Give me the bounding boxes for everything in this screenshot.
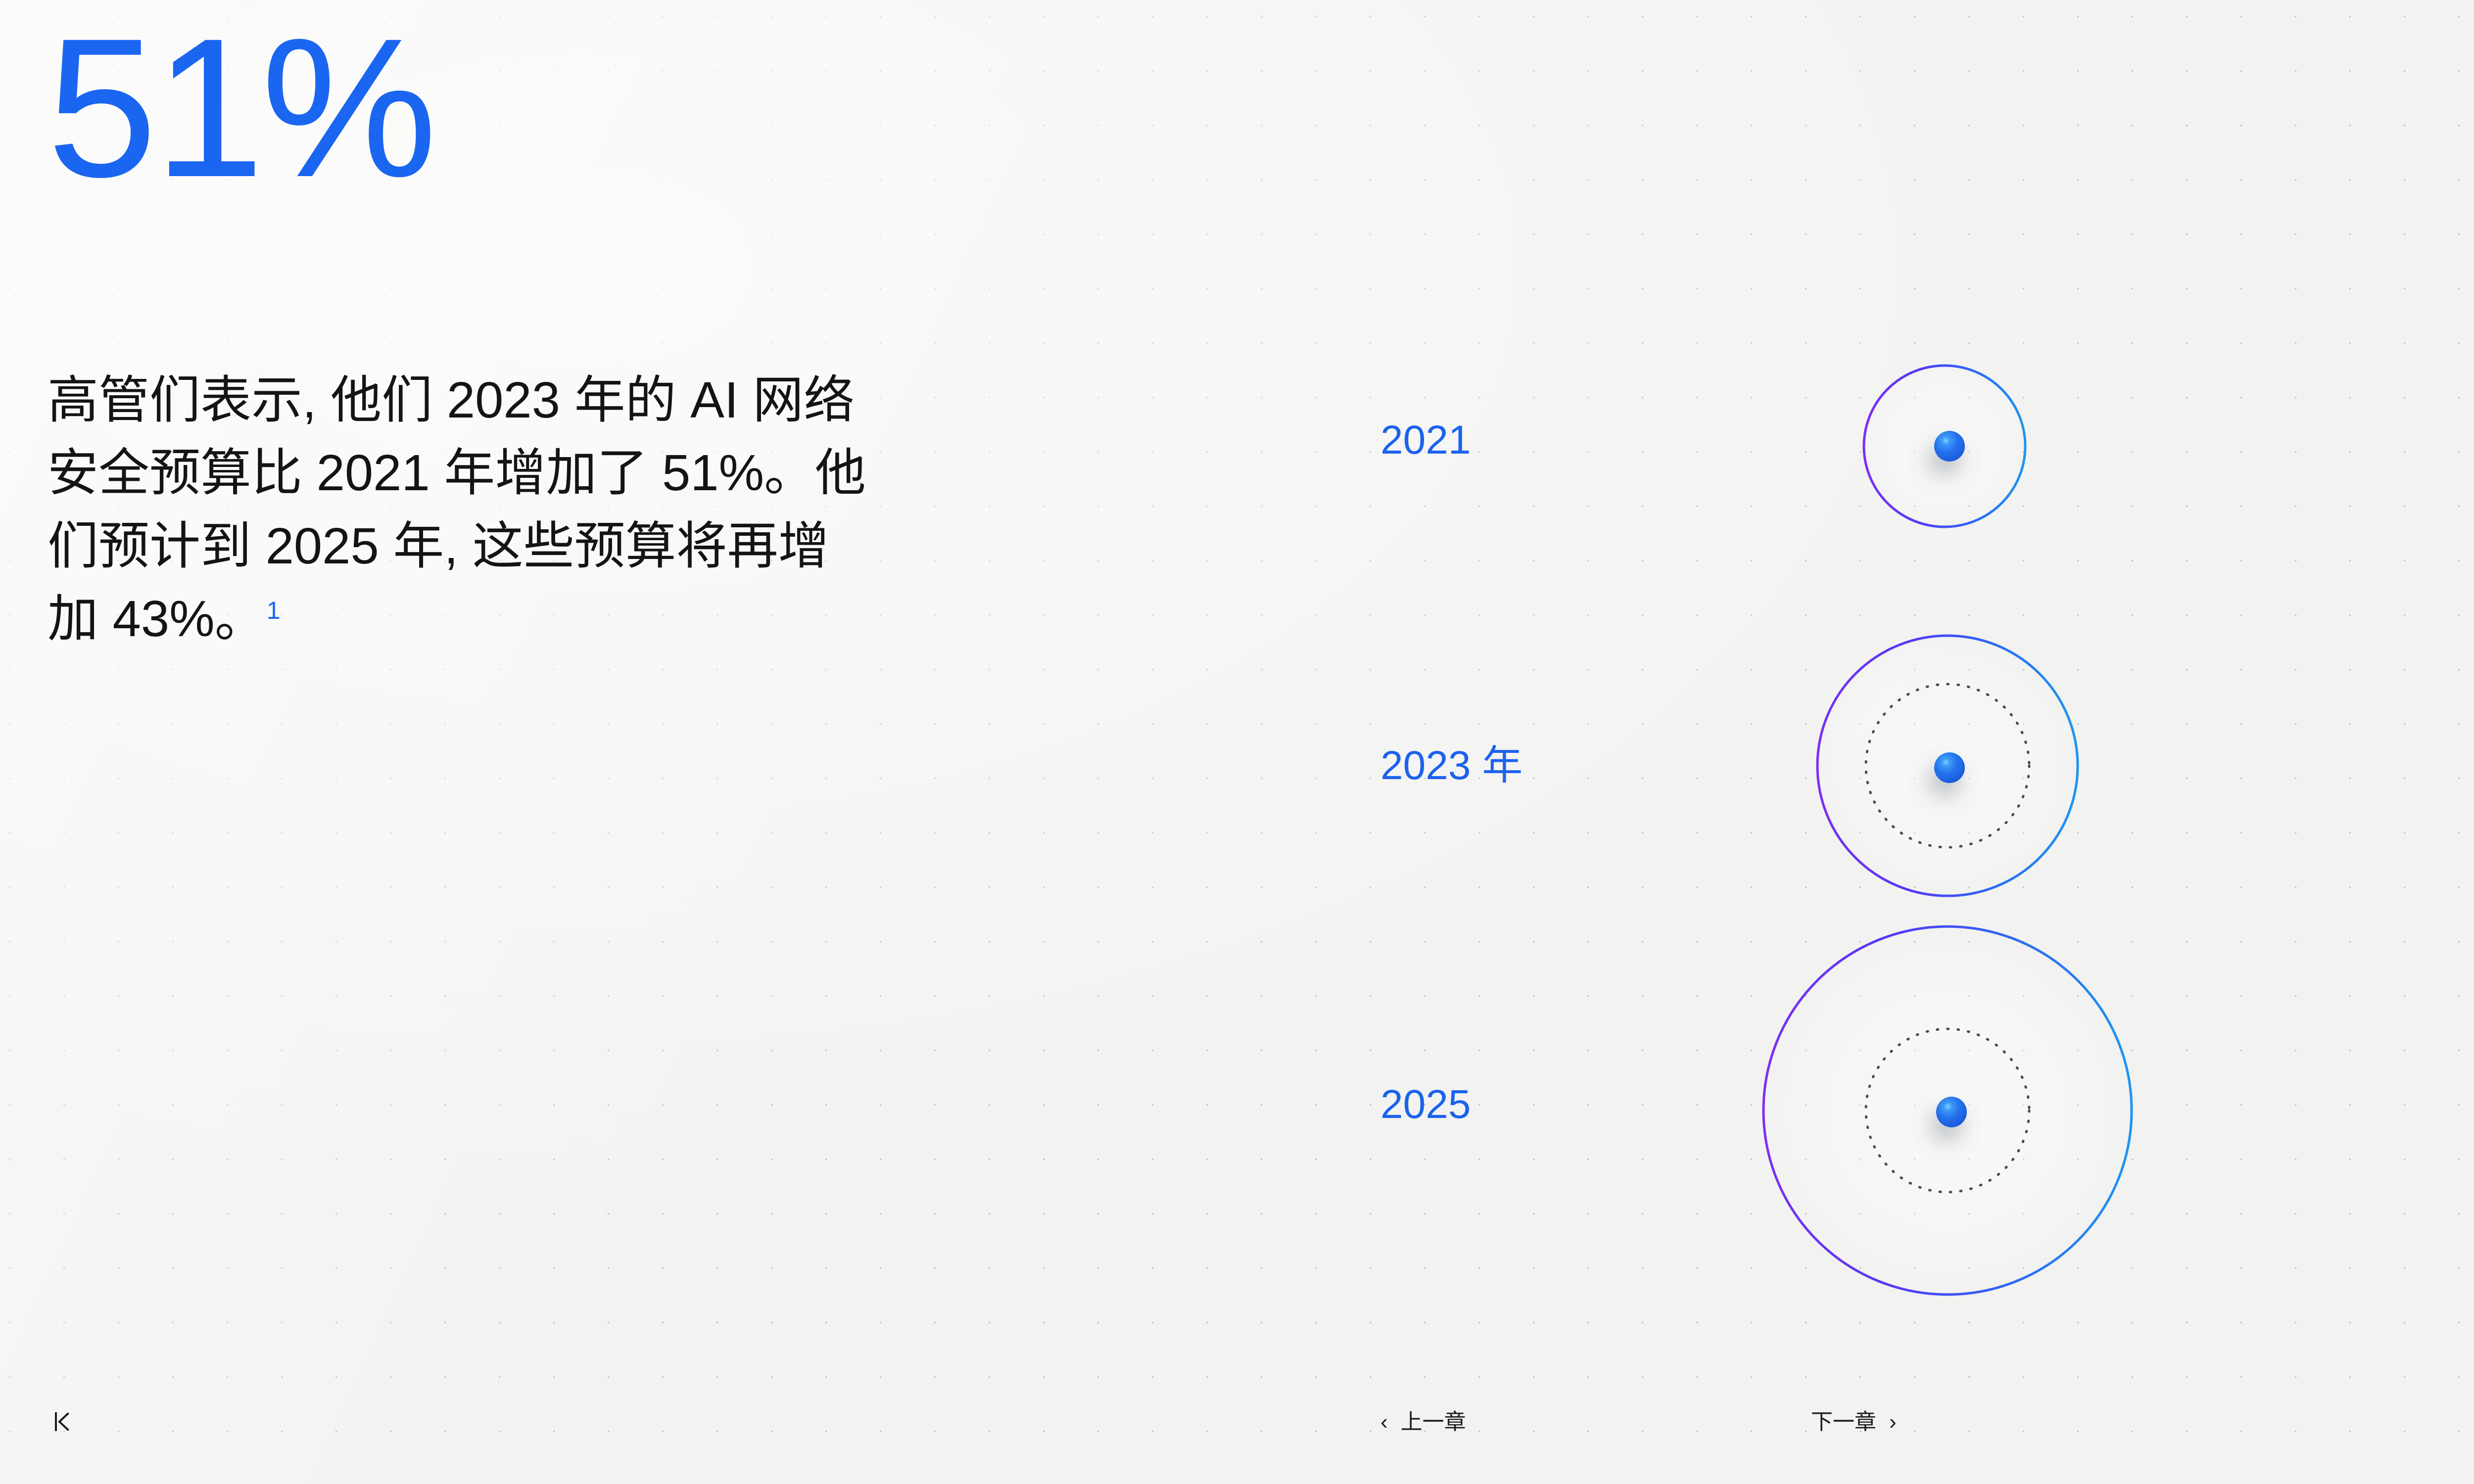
paper-wash-overlay: [0, 0, 2474, 1484]
dotted-inner-ring-2025: [1866, 1029, 2029, 1192]
body-text: 高管们表示, 他们 2023 年的 AI 网络安全预算比 2021 年增加了 5…: [48, 371, 866, 647]
budget-growth-diagram: [0, 0, 2474, 1484]
next-chapter-button[interactable]: 下一章 ›: [1811, 1411, 1897, 1433]
page-title: 51%: [47, 9, 434, 207]
chevron-left-icon: ‹: [1380, 1411, 1388, 1433]
previous-chapter-label: 上一章: [1401, 1411, 1466, 1433]
footer-bar: ‹ 上一章 下一章 › 8: [0, 1402, 2474, 1449]
slide-canvas: 51% 高管们表示, 他们 2023 年的 AI 网络安全预算比 2021 年增…: [0, 0, 2474, 1484]
year-label-2021: 2021: [1380, 420, 1471, 461]
body-paragraph: 高管们表示, 他们 2023 年的 AI 网络安全预算比 2021 年增加了 5…: [48, 364, 869, 655]
footnote-marker: 1: [267, 597, 281, 624]
data-sphere-2023: [1934, 752, 1965, 783]
next-chapter-label: 下一章: [1811, 1411, 1876, 1433]
go-to-first-page-button[interactable]: [54, 1410, 69, 1433]
data-sphere-2021: [1934, 431, 1965, 462]
circle-ring-2023: [1817, 636, 2078, 896]
data-sphere-2025: [1936, 1097, 1967, 1127]
dot-grid-background: [0, 0, 2474, 1484]
chevron-right-icon: ›: [1889, 1411, 1897, 1433]
dotted-inner-ring-2023: [1866, 684, 2029, 847]
circle-ring-2025: [1763, 927, 2132, 1295]
circle-ring-2021: [1864, 366, 2025, 527]
circle-group-2021: [1549, 366, 2025, 527]
year-label-2025: 2025: [1380, 1084, 1471, 1125]
year-label-2023: 2023 年: [1380, 745, 1522, 786]
circle-group-2023: [1515, 636, 2078, 896]
previous-chapter-button[interactable]: ‹ 上一章: [1380, 1411, 1466, 1433]
circle-fill-2025: [1763, 927, 2132, 1295]
circle-group-2025: [1549, 927, 2132, 1295]
circle-fill-2021: [1864, 366, 2025, 527]
skip-to-start-icon: [54, 1410, 69, 1433]
circle-fill-2023: [1817, 636, 2078, 896]
